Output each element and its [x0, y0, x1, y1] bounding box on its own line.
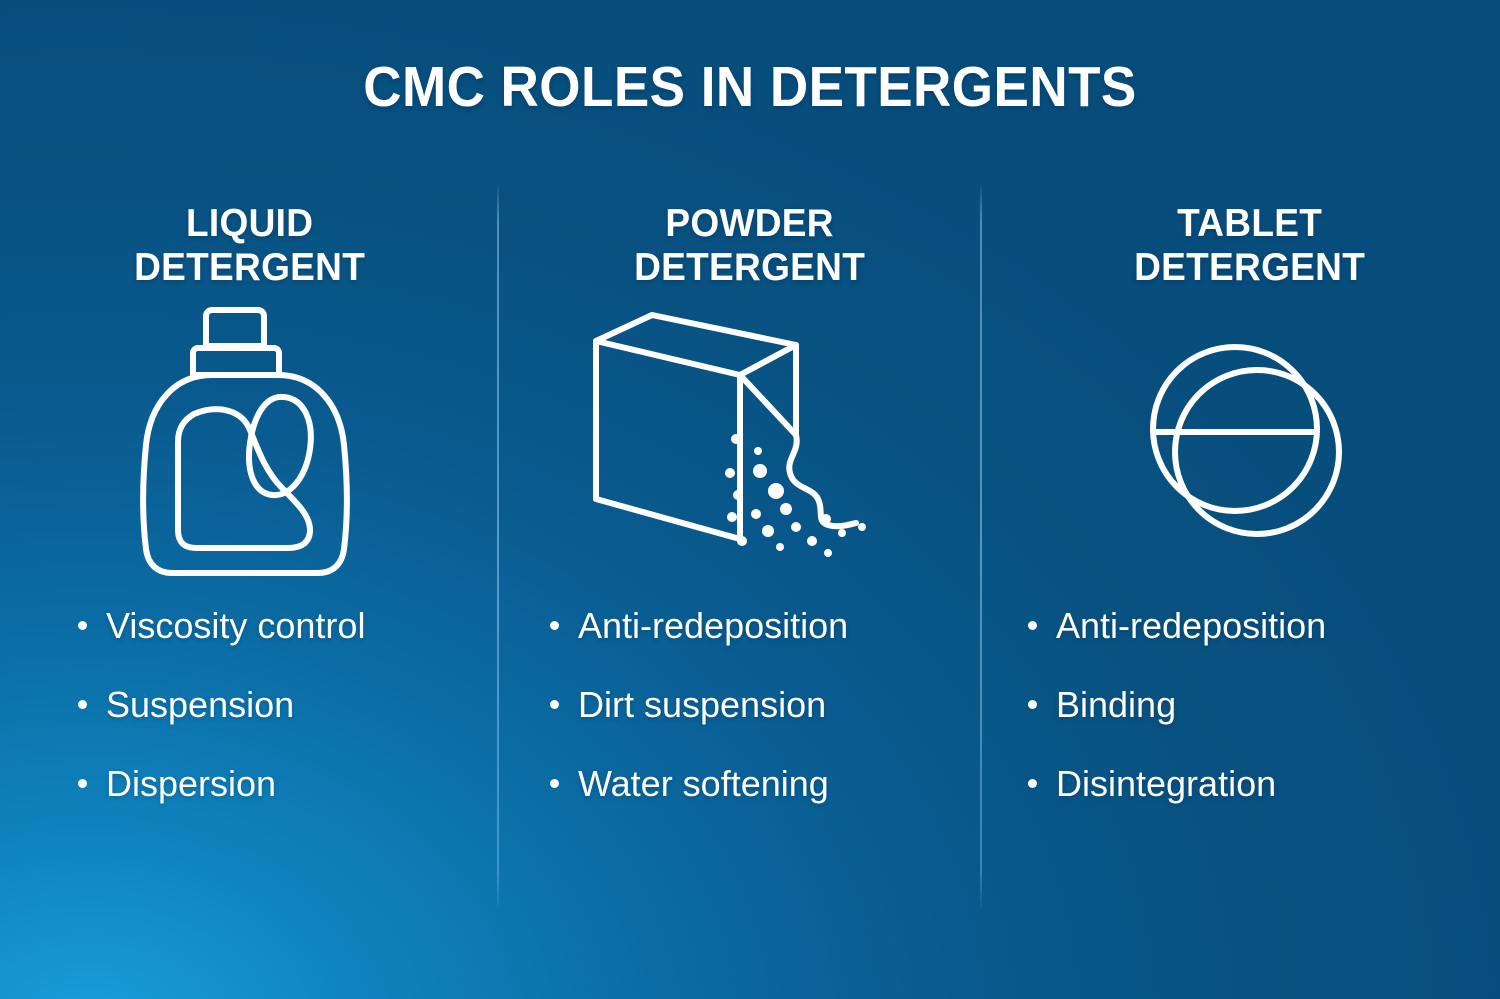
list-item-label: Water softening	[578, 763, 829, 804]
list-item: Dispersion	[78, 766, 500, 802]
list-item: Suspension	[78, 687, 500, 723]
bullet-dot-icon	[78, 779, 87, 788]
page-title: CMC ROLES IN DETERGENTS	[53, 58, 1448, 118]
list-item: Dirt suspension	[550, 687, 1000, 723]
bullet-list-tablet: Anti-redeposition Binding Disintegration	[1000, 608, 1500, 802]
list-item-label: Suspension	[106, 684, 294, 725]
list-item: Disintegration	[1028, 766, 1500, 802]
infographic-canvas: CMC ROLES IN DETERGENTS LIQUID DETERGENT	[0, 0, 1500, 999]
bullet-list-powder: Anti-redeposition Dirt suspension Water …	[500, 608, 1000, 802]
column-powder-detergent: POWDER DETERGENT	[500, 185, 1000, 925]
list-item-label: Anti-redeposition	[578, 605, 848, 646]
list-item-label: Viscosity control	[106, 605, 365, 646]
column-header-tablet: TABLET DETERGENT	[1134, 202, 1365, 290]
column-liquid-detergent: LIQUID DETERGENT Vi	[0, 185, 500, 925]
column-tablet-detergent: TABLET DETERGENT Anti-redeposition	[1000, 185, 1500, 925]
list-item-label: Dispersion	[106, 763, 276, 804]
list-item-label: Disintegration	[1056, 763, 1276, 804]
column-header-powder: POWDER DETERGENT	[634, 202, 865, 290]
bullet-dot-icon	[550, 700, 559, 709]
liquid-detergent-bottle-icon	[150, 294, 350, 594]
list-item: Water softening	[550, 766, 1000, 802]
list-item-label: Dirt suspension	[578, 684, 826, 725]
list-item: Anti-redeposition	[1028, 608, 1500, 644]
column-header-liquid: LIQUID DETERGENT	[134, 202, 365, 290]
bullet-dot-icon	[1028, 700, 1037, 709]
list-item-label: Anti-redeposition	[1056, 605, 1326, 646]
bullet-dot-icon	[550, 621, 559, 630]
list-item: Binding	[1028, 687, 1500, 723]
bullet-dot-icon	[78, 700, 87, 709]
powder-detergent-box-icon	[590, 294, 910, 594]
list-item-label: Binding	[1056, 684, 1176, 725]
bullet-dot-icon	[78, 621, 87, 630]
bullet-list-liquid: Viscosity control Suspension Dispersion	[0, 608, 500, 802]
bullet-dot-icon	[1028, 779, 1037, 788]
tablet-detergent-icon	[1135, 294, 1365, 594]
columns-container: LIQUID DETERGENT Vi	[0, 185, 1500, 925]
list-item: Viscosity control	[78, 608, 500, 644]
bullet-dot-icon	[1028, 621, 1037, 630]
list-item: Anti-redeposition	[550, 608, 1000, 644]
bullet-dot-icon	[550, 779, 559, 788]
